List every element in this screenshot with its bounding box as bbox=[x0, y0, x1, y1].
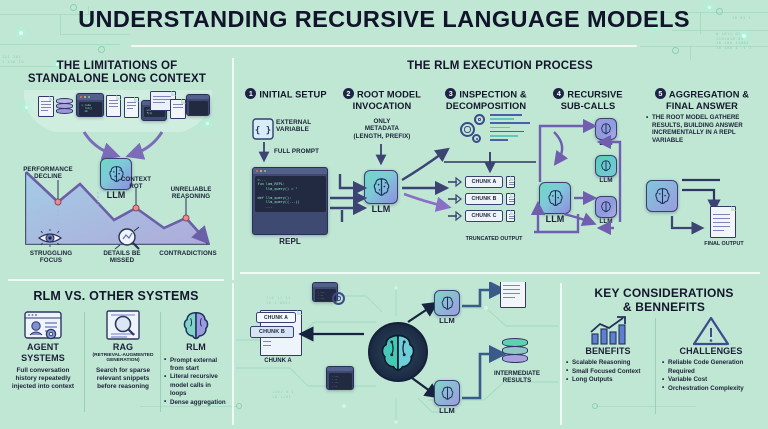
page-title-wrap: UNDERSTANDING RECURSIVE LANGUAGE MODELS bbox=[0, 6, 768, 33]
title-underline bbox=[131, 45, 637, 47]
benefits-list: Scalable Reasoning Small Focused Context… bbox=[566, 359, 650, 384]
terminal-icon: > code run() ok bbox=[76, 93, 104, 117]
comparison-item-rag: RAG (RETRIEVAL-AUGMENTED GENERATION) Sea… bbox=[88, 310, 158, 391]
process-heading: THE RLM EXECUTION PROCESS bbox=[240, 60, 760, 73]
list-item: Reliable Code Generation Required bbox=[662, 359, 760, 376]
arrows-repl-to-llm bbox=[328, 166, 368, 228]
considerations-separator bbox=[655, 318, 656, 414]
step-2-header: 2ROOT MODEL INVOCATION bbox=[334, 88, 430, 112]
full-prompt-label: FULL PROMPT bbox=[274, 148, 330, 155]
challenges-list: Reliable Code Generation Required Variab… bbox=[662, 359, 760, 393]
list-item: Orchestration Complexity bbox=[662, 385, 760, 393]
doc-icon bbox=[38, 96, 54, 117]
step-2-badge: 2 bbox=[343, 88, 354, 99]
considerations-column-benefits: BENEFITS Scalable Reasoning Small Focuse… bbox=[566, 316, 650, 385]
comparison-title: AGENT SYSTEMS bbox=[6, 342, 80, 363]
magnifier-doc-icon bbox=[105, 310, 141, 340]
final-output-caption: FINAL OUTPUT bbox=[696, 241, 752, 247]
doc-icon bbox=[170, 99, 186, 119]
step-1-badge: 1 bbox=[245, 88, 256, 99]
chart-axis-label-1: DETAILS BE MISSED bbox=[90, 250, 154, 265]
comparison-title: RAG bbox=[88, 342, 158, 353]
funnel-arrows bbox=[78, 132, 168, 160]
divider-vertical-bottom-left bbox=[232, 283, 234, 425]
flow-llm-icon bbox=[434, 290, 460, 316]
divider-horizontal-left bbox=[8, 279, 224, 281]
step-3-badge: 3 bbox=[445, 88, 456, 99]
doc-icon bbox=[506, 193, 515, 205]
panel-flow-diagram: 110 11 11 10 1 0011 1101 0 1 10 1101 10 … bbox=[236, 282, 558, 426]
step5-bullet: THE ROOT MODEL GATHERE RESULTS, BUILDING… bbox=[646, 114, 762, 144]
step5-bullets: THE ROOT MODEL GATHERE RESULTS, BUILDING… bbox=[646, 114, 762, 144]
step-3-header: 3INSPECTION & DECOMPOSITION bbox=[434, 88, 538, 112]
comparison-title: RLM bbox=[164, 342, 228, 353]
repl-terminal: >... fun lam_REPL: llm_query() = " def l… bbox=[252, 167, 328, 235]
gear-icon bbox=[472, 134, 481, 143]
braces-glyph: { } bbox=[252, 118, 274, 140]
brain-glyph bbox=[439, 385, 456, 402]
database-icon bbox=[56, 98, 73, 117]
chart-callout-2: UNRELIABLE REASONING bbox=[156, 186, 226, 201]
comparison-separator bbox=[160, 312, 161, 412]
panel-limitations: THE LIMITATIONS OF STANDALONE LONG CONTE… bbox=[6, 58, 228, 276]
terminal-titlebar bbox=[253, 168, 327, 174]
brain-icon bbox=[179, 310, 213, 340]
page-title: UNDERSTANDING RECURSIVE LANGUAGE MODELS bbox=[0, 6, 768, 33]
considerations-title: BENEFITS bbox=[566, 348, 650, 355]
chunk-chip: CHUNK A bbox=[465, 176, 503, 188]
divider-horizontal-main bbox=[240, 272, 760, 274]
comparison-item-rlm: RLM Prompt external from start Literal r… bbox=[164, 310, 228, 407]
arrow-down-to-root-llm bbox=[375, 144, 389, 166]
doc-icon bbox=[506, 210, 515, 222]
intermediate-results-label: INTERMEDIATE RESULTS bbox=[484, 370, 550, 384]
agent-window-icon bbox=[23, 310, 63, 340]
list-item: Literal recursive model calls in loops bbox=[164, 373, 228, 398]
flow-llm-label: LLM bbox=[432, 407, 462, 414]
aggregation-llm-icon bbox=[646, 180, 678, 212]
list-item: Long Outputs bbox=[566, 376, 650, 384]
step-5-badge: 5 bbox=[655, 88, 666, 99]
infographic-canvas: 111 101 1 110 10 0 1011 01 1101010 01 10… bbox=[0, 0, 768, 429]
comparison-item-agent-systems: AGENT SYSTEMS Full conversation history … bbox=[6, 310, 80, 391]
divider-vertical-bottom-right bbox=[560, 283, 562, 425]
chart-axis-label-0: STRUGGLING FOCUS bbox=[20, 250, 82, 265]
list-item: Dense aggregation bbox=[164, 399, 228, 407]
repl-label: REPL bbox=[252, 238, 328, 245]
comparison-subtitle: (RETRIEVAL-AUGMENTED GENERATION) bbox=[88, 353, 158, 364]
divider-vertical-left bbox=[232, 58, 234, 280]
metadata-label: ONLY METADATA (LENGTH, PREFIX) bbox=[334, 118, 430, 140]
chart-callout-0: PERFORMANCE DECLINE bbox=[12, 166, 84, 181]
flow-llm-label: LLM bbox=[432, 317, 462, 324]
list-item: Small Focused Context bbox=[566, 368, 650, 376]
comparison-body: Full conversation history repeatedly inj… bbox=[6, 367, 80, 391]
considerations-heading: KEY CONSIDERATIONS & BENNEFITS bbox=[564, 286, 764, 314]
considerations-column-challenges: CHALLENGES Reliable Code Generation Requ… bbox=[662, 316, 760, 393]
root-llm-icon bbox=[364, 170, 398, 204]
repl-code: >... fun lam_REPL: llm_query() = " def l… bbox=[255, 176, 326, 212]
list-item: Prompt external from start bbox=[164, 357, 228, 374]
arrows-llm-to-chunks bbox=[398, 140, 454, 210]
comparison-bullets: Prompt external from start Literal recur… bbox=[164, 357, 228, 407]
chunk-chip: CHUNK B bbox=[465, 193, 503, 205]
comparison-body: Search for sparse relevant snippets befo… bbox=[88, 367, 158, 391]
limitations-heading: THE LIMITATIONS OF STANDALONE LONG CONTE… bbox=[6, 58, 228, 86]
flow-output-doc-icon bbox=[500, 282, 526, 308]
warning-triangle-icon bbox=[692, 316, 730, 346]
brain-glyph bbox=[370, 176, 393, 199]
svg-text:{ }: { } bbox=[255, 126, 271, 136]
considerations-title: CHALLENGES bbox=[662, 348, 760, 355]
external-variable-icon: { } bbox=[252, 118, 274, 140]
intermediate-results-db-icon bbox=[502, 338, 528, 368]
comparison-heading: RLM vs. OTHER SYSTEMS bbox=[4, 290, 228, 303]
eye-icon bbox=[36, 228, 64, 248]
chart-axis-label-2: CONTRADICTIONS bbox=[152, 250, 224, 257]
magnifier-icon bbox=[114, 226, 142, 250]
flow-llm-icon bbox=[434, 380, 460, 406]
chunk-chip: CHUNK C bbox=[465, 210, 503, 222]
brain-glyph bbox=[439, 295, 456, 312]
step-4-badge: 4 bbox=[553, 88, 564, 99]
step-5-header: 5AGGREGATION & FINAL ANSWER bbox=[640, 88, 764, 112]
recursive-subcall-arrows bbox=[528, 110, 640, 246]
doc-icon bbox=[506, 176, 515, 188]
chunk-list: CHUNK A CHUNK B CHUNK C bbox=[448, 176, 515, 222]
growth-chart-icon bbox=[587, 316, 629, 346]
list-item: Scalable Reasoning bbox=[566, 359, 650, 367]
doc-icon bbox=[106, 95, 121, 117]
document-cluster: > code run() ok x=1 f(x) bbox=[20, 86, 216, 138]
step-1-header: 1INITIAL SETUP bbox=[240, 88, 332, 101]
step-4-header: 4RECURSIVE SUB-CALLS bbox=[540, 88, 636, 112]
decomposition-bracket bbox=[440, 152, 540, 172]
chart-terminal-icon bbox=[186, 94, 210, 116]
arrow-to-chunk bbox=[448, 211, 462, 221]
doc-icon bbox=[124, 97, 139, 118]
comparison-separator bbox=[84, 312, 85, 412]
gear-icon bbox=[474, 114, 485, 125]
arrow-down-to-repl bbox=[258, 142, 272, 164]
final-output-doc-icon bbox=[710, 206, 736, 238]
external-variable-label: EXTERNAL VARIABLE bbox=[276, 119, 332, 134]
brain-glyph bbox=[652, 186, 673, 207]
list-item: Variable Cost bbox=[662, 376, 760, 384]
